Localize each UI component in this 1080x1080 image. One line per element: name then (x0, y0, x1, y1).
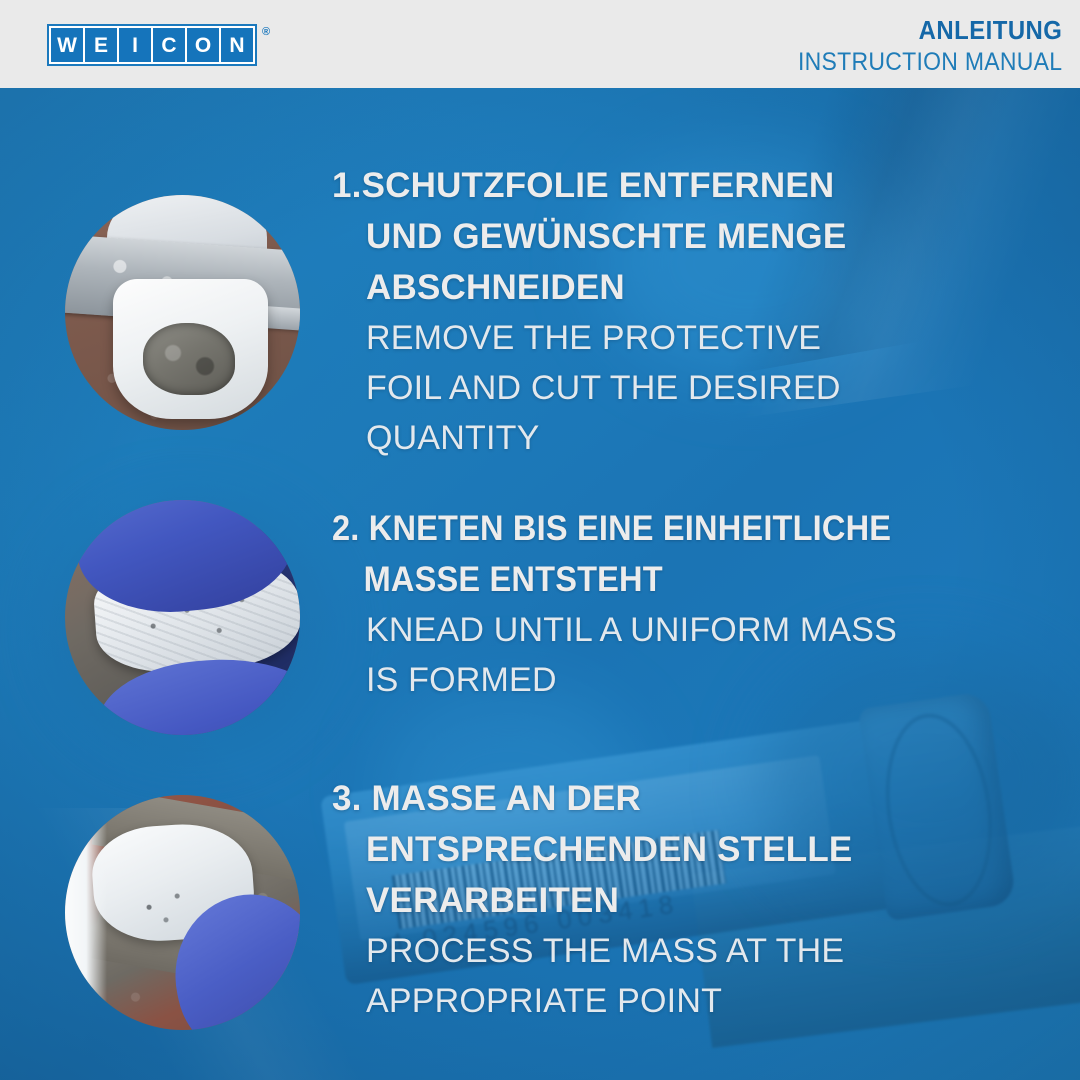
step-1-en-line-3: QUANTITY (332, 413, 1032, 463)
step-3-en-line-2: APPROPRIATE POINT (332, 976, 1032, 1026)
header-title-de: ANLEITUNG (798, 15, 1062, 45)
header-title-en: INSTRUCTION MANUAL (798, 47, 1062, 77)
step-1-photo (65, 195, 300, 430)
step-2-en-line-2: IS FORMED (332, 655, 1052, 705)
step-1-en-line-2: FOIL AND CUT THE DESIRED (332, 363, 1032, 413)
step-3-en-line-1: PROCESS THE MASS AT THE (332, 926, 1032, 976)
step-3-de-line-1: 3. MASSE AN DER (332, 773, 1032, 824)
step-2-de-line-1: 2. KNETEN BIS EINE EINHEITLICHE (332, 503, 1002, 554)
step-3-de-line-2: ENTSPRECHENDEN STELLE (332, 824, 1032, 875)
logo-letter-i: I (119, 28, 151, 62)
step-1-en-line-1: REMOVE THE PROTECTIVE (332, 313, 1032, 363)
logo-letter-e: E (85, 28, 117, 62)
step-3-de-line-3: VERARBEITEN (332, 875, 1032, 926)
step-2-photo (65, 500, 300, 735)
step-2-text: 2. KNETEN BIS EINE EINHEITLICHE MASSE EN… (332, 503, 1052, 705)
registered-trademark-icon: ® (262, 26, 270, 38)
step-1-de-line-3: ABSCHNEIDEN (332, 262, 1032, 313)
step-2-en-line-1: KNEAD UNTIL A UNIFORM MASS (332, 605, 1052, 655)
step-3-text: 3. MASSE AN DER ENTSPRECHENDEN STELLE VE… (332, 773, 1032, 1026)
content-area: 4 024596 003418 1.SCHUTZFOLIE ENTFERNEN … (0, 88, 1080, 1080)
photo-scene-cut-stick (65, 195, 300, 430)
logo-letter-n: N (221, 28, 253, 62)
step-1-text: 1.SCHUTZFOLIE ENTFERNEN UND GEWÜNSCHTE M… (332, 160, 1032, 463)
step-1-de-line-2: UND GEWÜNSCHTE MENGE (332, 211, 1032, 262)
photo-scene-apply (65, 795, 300, 1030)
step-3-photo (65, 795, 300, 1030)
putty-inner-core (143, 323, 235, 395)
photo-scene-knead (65, 500, 300, 735)
white-highlight-edge (65, 795, 107, 1030)
logo-letter-c: C (153, 28, 185, 62)
logo-letter-w: W (51, 28, 83, 62)
step-1-de-line-1: 1.SCHUTZFOLIE ENTFERNEN (332, 160, 1032, 211)
header-titles: ANLEITUNG INSTRUCTION MANUAL (775, 15, 1062, 77)
step-2-de-line-2: MASSE ENTSTEHT (332, 554, 1002, 605)
logo-letter-o: O (187, 28, 219, 62)
header-bar: W E I C O N ® ANLEITUNG INSTRUCTION MANU… (0, 0, 1080, 88)
weicon-logo: W E I C O N (47, 24, 257, 66)
